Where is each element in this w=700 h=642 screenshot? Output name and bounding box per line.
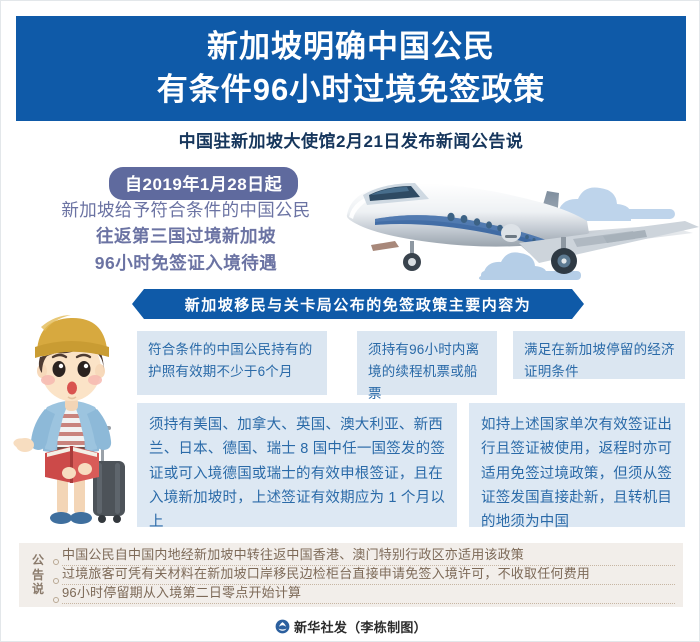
policy-card: 须持有96小时内离境的续程机票或船票	[357, 331, 497, 395]
airplane-illustration	[333, 149, 700, 301]
announcement-text-wrap: 过境旅客可凭有关材料在新加坡口岸移民边检柜台直接申请免签入境许可，不收取任何费用	[62, 565, 675, 585]
suitcase-icon	[93, 426, 125, 523]
footer-credit-text: 新华社发（李栋制图）	[294, 617, 427, 636]
announcement-item: 中国公民自中国内地经新加坡中转往返中国香港、澳门特别行政区亦适用该政策	[53, 547, 675, 566]
announcement-text: 96小时停留期从入境第二日零点开始计算	[62, 585, 301, 600]
traveler-character-illustration	[9, 313, 137, 538]
infographic-page: 新加坡明确中国公民 有条件96小时过境免签政策 中国驻新加坡大使馆2月21日发布…	[0, 0, 700, 642]
announcement-label-char-2: 告	[25, 568, 51, 583]
announcement-label: 公 告 说	[25, 553, 51, 597]
announcement-text: 过境旅客可凭有关材料在新加坡口岸移民边检柜台直接申请免签入境许可，不收取任何费用	[62, 566, 590, 581]
landing-gear	[403, 237, 577, 274]
bullet-circle-icon	[53, 578, 59, 584]
subtitle: 中国驻新加坡大使馆2月21日发布新闻公告说	[1, 127, 700, 152]
policy-card: 如持上述国家单次有效签证出行且签证被使用，返程时亦可适用免签过境政策，但须从签证…	[469, 403, 685, 527]
title-banner: 新加坡明确中国公民 有条件96小时过境免签政策	[16, 16, 686, 121]
policy-statement: 新加坡给予符合条件的中国公民 往返第三国过境新加坡 96小时免签证入境待遇	[21, 197, 351, 276]
cloud-shape-2	[479, 252, 581, 280]
cloud-shape	[552, 187, 675, 221]
policy-line-1: 新加坡给予符合条件的中国公民	[21, 197, 351, 223]
xinhua-logo-icon	[275, 619, 290, 634]
cabin-windows	[447, 213, 535, 242]
bullet-circle-icon	[53, 559, 59, 565]
beanie-hat	[35, 315, 109, 358]
section-banner: 新加坡移民与关卡局公布的免签政策主要内容为	[132, 289, 584, 319]
bullet-circle-icon	[53, 597, 59, 603]
announcement-label-char-1: 公	[25, 553, 51, 568]
announcement-item: 过境旅客可凭有关材料在新加坡口岸移民边检柜台直接申请免签入境许可，不收取任何费用	[53, 566, 675, 585]
effective-date-pill: 自2019年1月28日起	[109, 167, 298, 200]
section-banner-label: 新加坡移民与关卡局公布的免签政策主要内容为	[185, 294, 532, 315]
policy-card: 符合条件的中国公民持有的护照有效期不少于6个月	[137, 331, 327, 395]
announcement-item: 96小时停留期从入境第二日零点开始计算	[53, 585, 675, 604]
book-icon	[45, 446, 99, 483]
policy-card: 须持有美国、加拿大、英国、澳大利亚、新西兰、日本、德国、瑞士 8 国中任一国签发…	[137, 403, 457, 527]
announcement-text-wrap: 96小时停留期从入境第二日零点开始计算	[62, 584, 675, 604]
title-line-1: 新加坡明确中国公民	[207, 27, 495, 68]
announcement-text-wrap: 中国公民自中国内地经新加坡中转往返中国香港、澳门特别行政区亦适用该政策	[62, 546, 675, 566]
policy-card: 满足在新加坡停留的经济证明条件	[513, 331, 685, 379]
title-line-2: 有条件96小时过境免签政策	[157, 70, 545, 111]
policy-line-2: 往返第三国过境新加坡	[21, 223, 351, 249]
announcement-box: 公 告 说 中国公民自中国内地经新加坡中转往返中国香港、澳门特别行政区亦适用该政…	[19, 543, 683, 607]
announcement-label-char-3: 说	[25, 582, 51, 597]
announcement-text: 中国公民自中国内地经新加坡中转往返中国香港、澳门特别行政区亦适用该政策	[62, 547, 524, 562]
policy-line-3: 96小时免签证入境待遇	[21, 250, 351, 276]
footer-credit: 新华社发（李栋制图）	[1, 617, 700, 636]
announcement-list: 中国公民自中国内地经新加坡中转往返中国香港、澳门特别行政区亦适用该政策 过境旅客…	[51, 547, 675, 604]
